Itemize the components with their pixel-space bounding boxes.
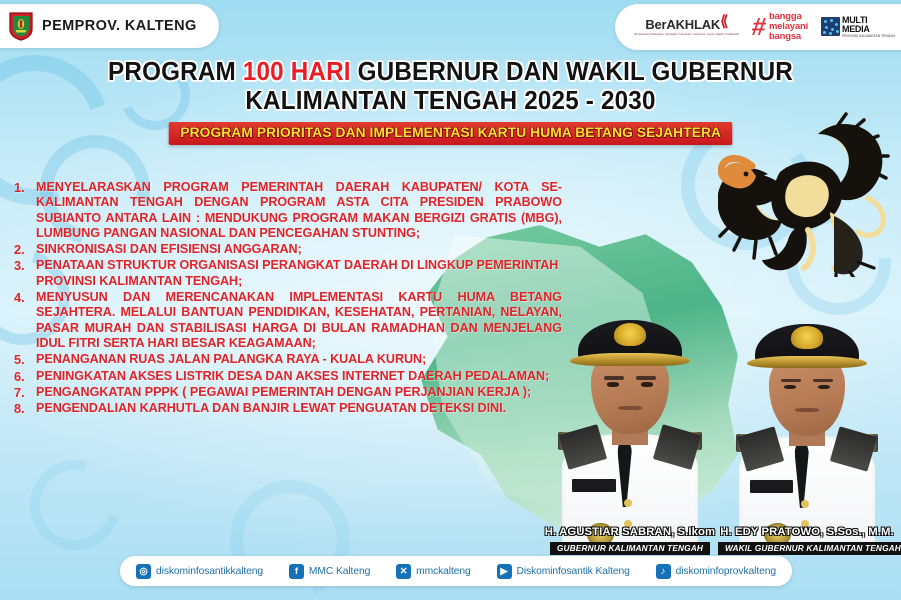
list-item-text: SINKRONISASI DAN EFISIENSI ANGGARAN; <box>36 242 562 257</box>
uniform-button <box>801 500 809 508</box>
berakhlak-logo-sub: Berorientasi Pelayanan, Akuntabel, Kompe… <box>635 34 740 37</box>
official-photo-vice-governor <box>718 298 896 554</box>
berakhlak-logo: BerAKHLAK⟪ Berorientasi Pelayanan, Akunt… <box>635 17 740 37</box>
official-role: WAKIL GUBERNUR KALIMANTAN TENGAH <box>718 542 901 555</box>
eye-right <box>818 385 830 389</box>
subtitle-ribbon: PROGRAM PRIORITAS DAN IMPLEMENTASI KARTU… <box>169 122 733 145</box>
org-badge: PEMPROV. KALTENG <box>0 4 219 48</box>
list-item: 3.PENATAAN STRUKTUR ORGANISASI PERANGKAT… <box>14 258 562 289</box>
poster-root: PEMPROV. KALTENG BerAKHLAK⟪ Berorientasi… <box>0 0 901 600</box>
swirl-motif-icon <box>14 444 137 567</box>
list-item-number: 6. <box>14 369 36 384</box>
title-highlight: 100 HARI <box>243 58 351 86</box>
list-item: 8.PENGENDALIAN KARHUTLA DAN BANJIR LEWAT… <box>14 401 562 416</box>
uniform-button <box>624 499 632 507</box>
list-item-number: 7. <box>14 385 36 400</box>
garuda-emblem-icon <box>614 323 646 346</box>
partner-logos: BerAKHLAK⟪ Berorientasi Pelayanan, Akunt… <box>615 4 901 50</box>
bangga-line3: bangsa <box>769 32 808 42</box>
list-item-number: 8. <box>14 401 36 416</box>
list-item-text: MENYUSUN DAN MERENCANAKAN IMPLEMENTASI K… <box>36 290 562 351</box>
bangga-melayani-bangsa-logo: # bangga melayani bangsa <box>752 12 808 41</box>
list-item: 4.MENYUSUN DAN MERENCANAKAN IMPLEMENTASI… <box>14 290 562 351</box>
social-instagram[interactable]: ◎ diskominfosantikkalteng <box>136 564 263 579</box>
program-list: 1.MENYELARASKAN PROGRAM PEMERINTAH DAERA… <box>14 180 562 417</box>
social-facebook[interactable]: f MMC Kalteng <box>289 564 370 579</box>
social-handle: Diskominfosantik Kalteng <box>517 566 630 577</box>
social-x-twitter[interactable]: ✕ mmckalteng <box>396 564 471 579</box>
list-item: 1.MENYELARASKAN PROGRAM PEMERINTAH DAERA… <box>14 180 562 241</box>
multimedia-dots-icon <box>821 17 840 36</box>
list-item-number: 3. <box>14 258 36 289</box>
list-item: 5.PENANGANAN RUAS JALAN PALANGKA RAYA - … <box>14 352 562 367</box>
cap-gold-brim <box>570 353 691 366</box>
list-item-text: PENATAAN STRUKTUR ORGANISASI PERANGKAT D… <box>36 258 562 289</box>
uniform-nametag <box>750 480 793 493</box>
mouth <box>795 408 819 411</box>
list-item-number: 5. <box>14 352 36 367</box>
list-item-text: PENINGKATAN AKSES LISTRIK DESA DAN AKSES… <box>36 369 562 384</box>
title-post: GUBERNUR DAN WAKIL GUBERNUR <box>351 58 793 86</box>
eye-right <box>641 382 653 386</box>
mouth <box>618 406 643 410</box>
official-card-vice-governor: H. EDY PRATOWO, S.Sos., M.M. WAKIL GUBER… <box>718 298 896 554</box>
hashtag-icon: # <box>751 17 768 37</box>
eyebrow-right <box>636 376 656 380</box>
title-line-2: KALIMANTAN TENGAH 2025 - 2030 <box>23 87 879 116</box>
list-item-text: PENANGANAN RUAS JALAN PALANGKA RAYA - KU… <box>36 352 562 367</box>
multimedia-sub: PROVINSI KALIMANTAN TENGAH <box>842 35 895 38</box>
instagram-icon: ◎ <box>136 564 151 579</box>
kalteng-shield-emblem-icon <box>8 11 34 41</box>
title-pre: PROGRAM <box>108 58 243 86</box>
garuda-emblem-icon <box>791 326 823 349</box>
official-name: H. EDY PRATOWO, S.Sos., M.M. <box>718 526 896 538</box>
eyebrow-left <box>604 376 624 380</box>
social-footer-bar: ◎ diskominfosantikkalteng f MMC Kalteng … <box>120 556 792 586</box>
cap-gold-brim <box>747 356 866 369</box>
list-item-text: MENYELARASKAN PROGRAM PEMERINTAH DAERAH … <box>36 180 562 241</box>
org-badge-label: PEMPROV. KALTENG <box>42 18 197 34</box>
eyebrow-left <box>781 379 801 382</box>
social-handle: diskominfoprovkalteng <box>676 566 776 577</box>
official-namebar: H. AGUSTIAR SABRAN, S.Ikom GUBERNUR KALI… <box>540 526 720 556</box>
header-bar: PEMPROV. KALTENG BerAKHLAK⟪ Berorientasi… <box>0 0 901 58</box>
eyebrow-right <box>813 379 833 382</box>
list-item-number: 1. <box>14 180 36 241</box>
title-line-1: PROGRAM 100 HARI GUBERNUR DAN WAKIL GUBE… <box>23 58 879 87</box>
uniform-nametag <box>572 479 615 492</box>
berakhlak-logo-main: BerAKHLAK <box>645 17 720 32</box>
youtube-icon: ▶ <box>497 564 512 579</box>
list-item: 2.SINKRONISASI DAN EFISIENSI ANGGARAN; <box>14 242 562 257</box>
multimedia-logo: MULTI MEDIA PROVINSI KALIMANTAN TENGAH <box>821 16 895 38</box>
social-tiktok[interactable]: ♪ diskominfoprovkalteng <box>656 564 776 579</box>
official-namebar: H. EDY PRATOWO, S.Sos., M.M. WAKIL GUBER… <box>718 526 896 556</box>
multimedia-line2: MEDIA <box>842 25 895 34</box>
official-card-governor: H. AGUSTIAR SABRAN, S.Ikom GUBERNUR KALI… <box>540 294 720 554</box>
list-item-text: PENGANGKATAN PPPK ( PEGAWAI PEMERINTAH D… <box>36 385 562 400</box>
eye-left <box>607 382 619 386</box>
list-item-number: 4. <box>14 290 36 351</box>
berakhlak-check-icon: ⟪ <box>720 13 728 30</box>
list-item: 6.PENINGKATAN AKSES LISTRIK DESA DAN AKS… <box>14 369 562 384</box>
social-handle: mmckalteng <box>416 566 471 577</box>
eye-left <box>784 385 796 389</box>
official-role: GUBERNUR KALIMANTAN TENGAH <box>550 542 710 555</box>
x-twitter-icon: ✕ <box>396 564 411 579</box>
hornbill-bird-icon <box>718 112 893 277</box>
social-handle: diskominfosantikkalteng <box>156 566 263 577</box>
official-name: H. AGUSTIAR SABRAN, S.Ikom <box>540 526 720 538</box>
social-handle: MMC Kalteng <box>309 566 370 577</box>
official-photo-governor <box>540 294 720 554</box>
tiktok-icon: ♪ <box>656 564 671 579</box>
list-item-number: 2. <box>14 242 36 257</box>
social-youtube[interactable]: ▶ Diskominfosantik Kalteng <box>497 564 630 579</box>
list-item: 7.PENGANGKATAN PPPK ( PEGAWAI PEMERINTAH… <box>14 385 562 400</box>
list-item-text: PENGENDALIAN KARHUTLA DAN BANJIR LEWAT P… <box>36 401 562 416</box>
facebook-icon: f <box>289 564 304 579</box>
